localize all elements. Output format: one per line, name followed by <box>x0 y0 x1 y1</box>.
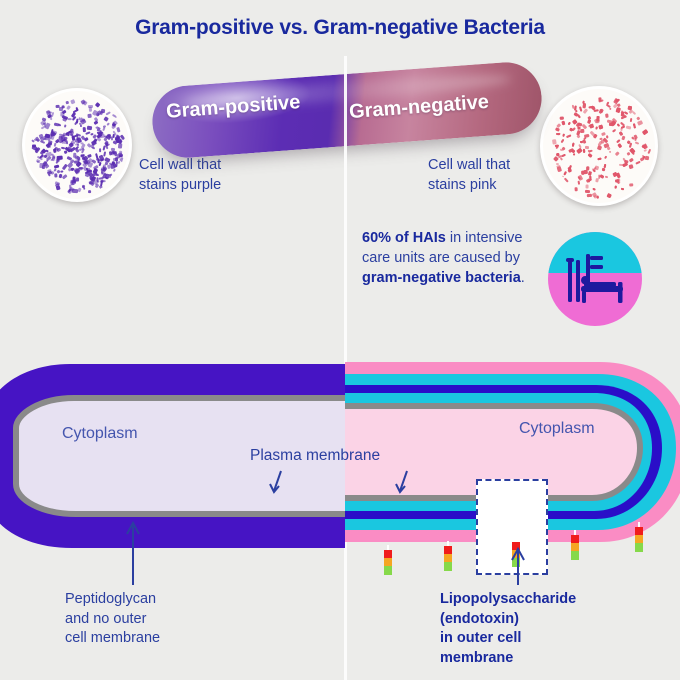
bottom-pointer-arrows <box>0 0 680 680</box>
gram-stain-infographic: Gram-positive vs. Gram-negative Bacteria… <box>0 0 680 680</box>
lipopolysaccharide-label: Lipopolysaccharide (endotoxin) in outer … <box>440 590 576 668</box>
peptidoglycan-label: Peptidoglycan and no outer cell membrane <box>65 590 160 649</box>
